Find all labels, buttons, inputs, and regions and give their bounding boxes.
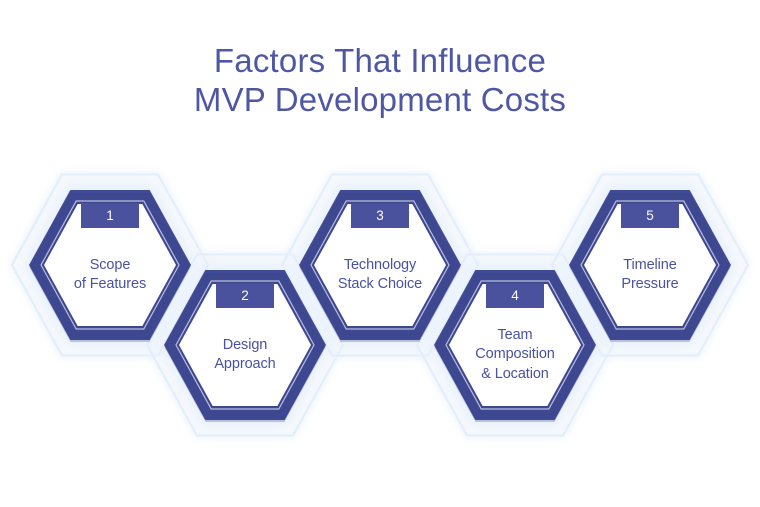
- hexagon-label-2-line-2: Approach: [164, 355, 326, 374]
- infographic-canvas: Factors That Influence MVP Development C…: [0, 0, 760, 507]
- hexagon-number-badge-3: 3: [299, 209, 461, 223]
- hexagon-label-5: Timeline Pressure: [569, 256, 731, 295]
- hexagon-label-2: Design Approach: [164, 336, 326, 375]
- hexagon-number-badge-1: 1: [29, 209, 191, 223]
- hexagon-chain-diagram: 1 Scope of Features 2 Design Approach 3 …: [0, 0, 760, 507]
- hexagon-label-5-line-2: Pressure: [569, 275, 731, 294]
- hexagon-label-4-line-2: Composition: [434, 345, 596, 364]
- hexagon-label-5-line-1: Timeline: [569, 256, 731, 275]
- hexagon-item-5[interactable]: 5 Timeline Pressure: [569, 190, 731, 340]
- hexagon-label-4-line-3: & Location: [434, 365, 596, 384]
- hexagon-number-badge-5: 5: [569, 209, 731, 223]
